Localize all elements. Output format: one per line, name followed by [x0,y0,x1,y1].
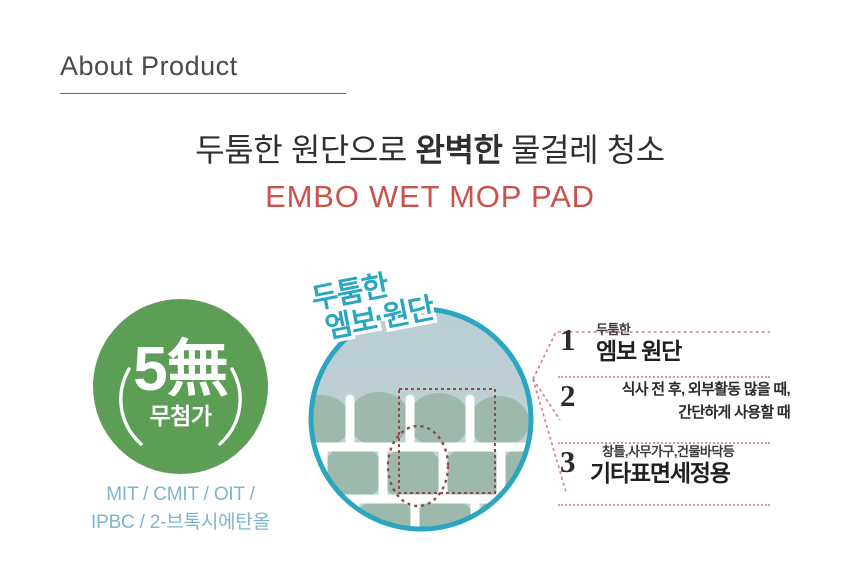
headline-block: 두툼한 원단으로 완벽한 물걸레 청소 EMBO WET MOP PAD [0,130,860,215]
product-detail-page: About Product 두툼한 원단으로 완벽한 물걸레 청소 EMBO W… [0,0,860,581]
ingredients-line-1: MIT / CMIT / OIT / [53,481,308,509]
feature-item-2: 2 식사 전 후, 외부활동 많을 때, 간단하게 사용할 때 [560,378,790,442]
feature-item-1: 1 두툼한 엠보 원단 [560,322,790,376]
no-additives-badge: 5無 무첨가 [93,299,268,474]
feature-body-2-line-1: 식사 전 후, 외부활동 많을 때, [594,378,790,401]
headline-korean-part1: 두툼한 원단으로 [195,132,415,168]
feature-divider-3 [558,504,770,506]
badge-caption: 무첨가 [133,405,228,428]
feature-subtitle-1: 두툼한 [590,322,790,338]
feature-list: 1 두툼한 엠보 원단 2 식사 전 후, 외부활동 많을 때, 간단하게 사용… [560,322,790,506]
headline-korean-emphasis: 완벽한 [415,132,502,168]
headline-korean-part2: 물걸레 청소 [503,132,665,168]
feature-number-1: 1 [560,324,576,355]
feature-item-3: 3 창틀,사무가구,건물바닥등 기타표면세정용 [560,444,790,504]
badge-main-text: 5無 [133,341,228,400]
feature-number-2: 2 [560,380,576,411]
feature-number-3: 3 [560,446,576,477]
badge-number: 5 [133,335,166,404]
headline-korean: 두툼한 원단으로 완벽한 물걸레 청소 [0,130,860,170]
ingredients-line-2: IPBC / 2-브톡시에탄올 [53,509,308,537]
fabric-closeup-illustration: 두툼한 엠보 원단 [305,303,537,535]
feature-title-3: 기타표면세정용 [590,460,790,488]
page-title: About Product [60,52,360,82]
fabric-circle-graphic [305,303,537,535]
feature-title-1: 엠보 원단 [590,338,790,366]
no-additives-badge-group: 5無 무첨가 MIT / CMIT / OIT / IPBC / 2-브톡시에탄… [93,299,268,474]
headline-english: EMBO WET MOP PAD [0,179,860,215]
badge-hanja: 無 [167,335,228,404]
section-header: About Product [60,52,360,94]
feature-subtitle-3: 창틀,사무가구,건물바닥등 [590,444,790,460]
title-divider [60,93,346,94]
feature-body-2-line-2: 간단하게 사용할 때 [594,401,790,424]
ingredient-exclusion-list: MIT / CMIT / OIT / IPBC / 2-브톡시에탄올 [53,481,308,536]
